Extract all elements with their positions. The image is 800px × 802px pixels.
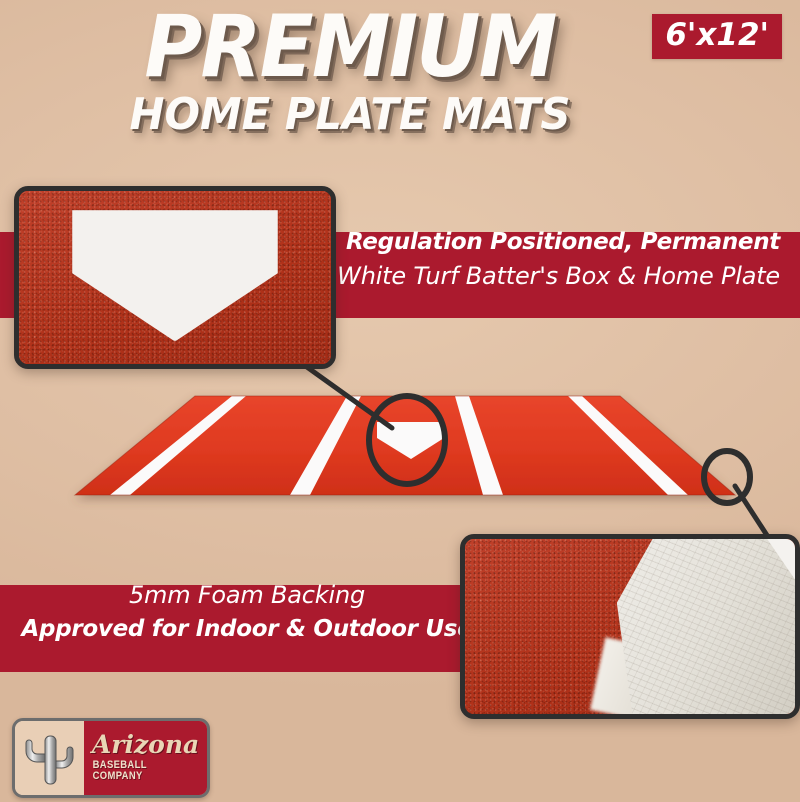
inset-foam-backing-closeup bbox=[460, 534, 800, 719]
logo-icon-panel bbox=[15, 721, 84, 795]
top-banner-line-2: White Turf Batter's Box & Home Plate bbox=[310, 259, 780, 294]
bottom-banner-line-2: Approved for Indoor & Outdoor Use bbox=[12, 613, 482, 646]
top-banner-line-1: Regulation Positioned, Permanent bbox=[310, 226, 780, 259]
logo-tagline: BASEBALL COMPANY bbox=[93, 760, 199, 782]
mat-markings bbox=[0, 380, 800, 520]
size-badge: 6'x12' bbox=[652, 14, 782, 59]
product-mat-illustration bbox=[0, 380, 800, 520]
logo-text-panel: Arizona BASEBALL COMPANY bbox=[84, 721, 207, 795]
top-banner-text: Regulation Positioned, Permanent White T… bbox=[310, 226, 780, 293]
product-marketing-image: PREMIUM HOME PLATE MATS 6'x12' bbox=[0, 0, 800, 802]
foam-backing-flap bbox=[617, 534, 800, 719]
bottom-banner-line-1: 5mm Foam Backing bbox=[12, 578, 482, 613]
bottom-banner-text: 5mm Foam Backing Approved for Indoor & O… bbox=[12, 578, 482, 645]
mat-svg bbox=[0, 380, 800, 520]
brand-logo: Arizona BASEBALL COMPANY bbox=[12, 718, 210, 798]
logo-brand-name: Arizona bbox=[92, 732, 199, 757]
saguaro-cactus-icon bbox=[24, 730, 76, 786]
inset-home-plate-closeup bbox=[14, 186, 336, 369]
